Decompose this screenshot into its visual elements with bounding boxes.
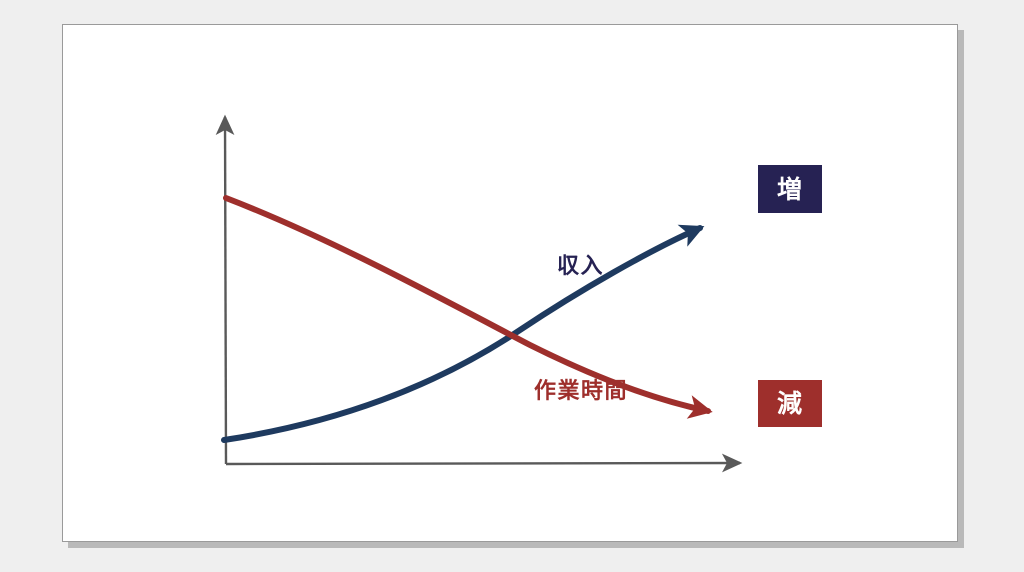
- worktime-curve-label: 作業時間: [534, 381, 628, 403]
- increase-badge-label: 増: [777, 177, 803, 202]
- decrease-badge-label: 減: [777, 391, 803, 416]
- income-curve-label: 収入: [557, 256, 604, 278]
- slide-card: [62, 24, 958, 542]
- decrease-badge: 減: [758, 380, 822, 427]
- increase-badge: 増: [758, 165, 822, 213]
